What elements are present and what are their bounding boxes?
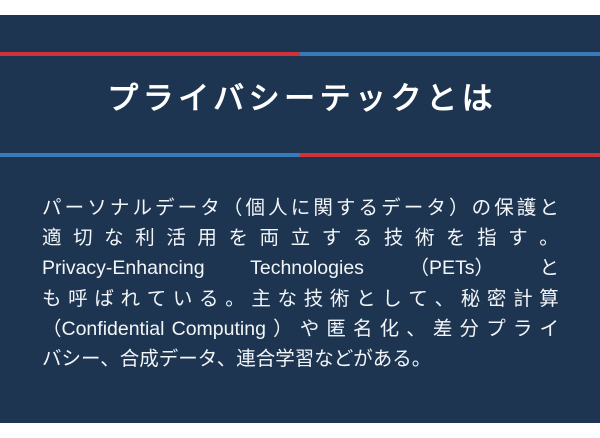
body-text-token: 呼 xyxy=(68,284,88,314)
body-text-token: 適 xyxy=(42,223,62,253)
body-text-token: バシー、合成データ、連合学習などがある。 xyxy=(42,344,431,374)
body-text-token: 密 xyxy=(487,284,507,314)
body-text-token: に xyxy=(291,193,311,223)
body-text-token: 用 xyxy=(197,223,217,253)
slide-canvas: プライバシーテックとは パーソナルデータ（個人に関するデータ）の保護と適切な利活… xyxy=(0,0,600,438)
body-text-token: ） xyxy=(449,193,469,223)
body-text-token: 名 xyxy=(353,314,373,344)
body-text-token: と xyxy=(539,193,559,223)
body-text-token: 秘 xyxy=(461,284,481,314)
body-text-token: 個 xyxy=(245,193,265,223)
body-text-token: 利 xyxy=(135,223,155,253)
body-text-token: も xyxy=(42,284,62,314)
body-text-token: れ xyxy=(121,284,141,314)
slide-title: プライバシーテックとは xyxy=(0,77,600,121)
body-text-token: デ xyxy=(155,193,175,223)
body-text-token: 活 xyxy=(166,223,186,253)
body-text-token: 指 xyxy=(477,223,497,253)
body-text-token: Technologies xyxy=(250,253,364,283)
body-text-line: Privacy-EnhancingTechnologies（PETs）と xyxy=(42,253,559,283)
bottom-accent-rule xyxy=(0,153,600,157)
body-text-token: と xyxy=(539,253,559,283)
body-text-token: る xyxy=(199,284,219,314)
slide-panel: プライバシーテックとは パーソナルデータ（個人に関するデータ）の保護と適切な利活… xyxy=(0,15,600,423)
top-accent-rule-blue-segment xyxy=(300,52,600,56)
body-text-token: 化 xyxy=(380,314,400,344)
body-text-token: し xyxy=(382,284,402,314)
body-text-token: て xyxy=(408,284,428,314)
body-text-token: ラ xyxy=(513,314,533,344)
body-text-token: イ xyxy=(539,314,559,344)
body-text-token: す xyxy=(336,193,356,223)
body-text-token: 計 xyxy=(513,284,533,314)
body-text-line: 適切な利活用を両立する技術を指す。 xyxy=(42,223,559,253)
body-text-token: 。 xyxy=(225,284,245,314)
body-text-token: 人 xyxy=(268,193,288,223)
body-text-token: 。 xyxy=(539,223,559,253)
body-text-line: バシー、合成データ、連合学習などがある。 xyxy=(42,344,559,374)
body-text-token: ー xyxy=(404,193,424,223)
body-text-token: ソ xyxy=(87,193,107,223)
body-text-token: 護 xyxy=(517,193,537,223)
body-text-token: （PETs） xyxy=(409,253,494,283)
body-text-token: （ xyxy=(223,193,243,223)
body-text-token: 匿 xyxy=(326,314,346,344)
body-text-token: ー xyxy=(65,193,85,223)
body-text-token: Computing xyxy=(172,314,266,344)
top-accent-rule xyxy=(0,52,600,56)
body-text-token: い xyxy=(173,284,193,314)
body-text-token: の xyxy=(472,193,492,223)
body-text-token: ば xyxy=(94,284,114,314)
body-text-token: 技 xyxy=(384,223,404,253)
body-text-token: て xyxy=(147,284,167,314)
body-text-token: と xyxy=(356,284,376,314)
body-text-line: パーソナルデータ（個人に関するデータ）の保護と xyxy=(42,193,559,223)
body-text-token: 、 xyxy=(435,284,455,314)
body-text-token: を xyxy=(228,223,248,253)
body-text-token: ル xyxy=(132,193,152,223)
body-text-token: す xyxy=(322,223,342,253)
body-text-token: 算 xyxy=(539,284,559,314)
body-text-token: な xyxy=(104,223,124,253)
body-text-token: Privacy-Enhancing xyxy=(42,253,205,283)
body-text-token: 主 xyxy=(251,284,271,314)
body-text-token: る xyxy=(359,193,379,223)
body-text-token: な xyxy=(278,284,298,314)
body-text-line: （ConfidentialComputing）や匿名化、差分プライ xyxy=(42,314,559,344)
bottom-accent-rule-red-segment xyxy=(300,153,600,157)
top-accent-rule-red-segment xyxy=(0,52,300,56)
slide-body-text: パーソナルデータ（個人に関するデータ）の保護と適切な利活用を両立する技術を指す。… xyxy=(42,193,559,374)
body-text-token: 術 xyxy=(330,284,350,314)
body-text-token: 差 xyxy=(433,314,453,344)
body-text-token: 立 xyxy=(291,223,311,253)
body-text-token: 技 xyxy=(304,284,324,314)
body-text-token: 保 xyxy=(494,193,514,223)
body-text-token: デ xyxy=(381,193,401,223)
body-text-token: （Confidential xyxy=(42,314,165,344)
body-text-token: 、 xyxy=(406,314,426,344)
body-text-token: 切 xyxy=(73,223,93,253)
body-text-token: 術 xyxy=(415,223,435,253)
body-text-token: ） xyxy=(273,314,293,344)
body-text-token: を xyxy=(446,223,466,253)
body-text-token: や xyxy=(300,314,320,344)
body-text-token: 分 xyxy=(460,314,480,344)
body-text-token: ー xyxy=(178,193,198,223)
body-text-token: プ xyxy=(486,314,506,344)
body-text-token: ナ xyxy=(110,193,130,223)
body-text-token: タ xyxy=(200,193,220,223)
body-text-token: 両 xyxy=(260,223,280,253)
body-text-token: る xyxy=(353,223,373,253)
body-text-token: タ xyxy=(426,193,446,223)
bottom-accent-rule-blue-segment xyxy=(0,153,300,157)
body-text-line: も呼ばれている。主な技術として、秘密計算 xyxy=(42,284,559,314)
body-text-token: 関 xyxy=(313,193,333,223)
body-text-token: パ xyxy=(42,193,62,223)
body-text-token: す xyxy=(508,223,528,253)
